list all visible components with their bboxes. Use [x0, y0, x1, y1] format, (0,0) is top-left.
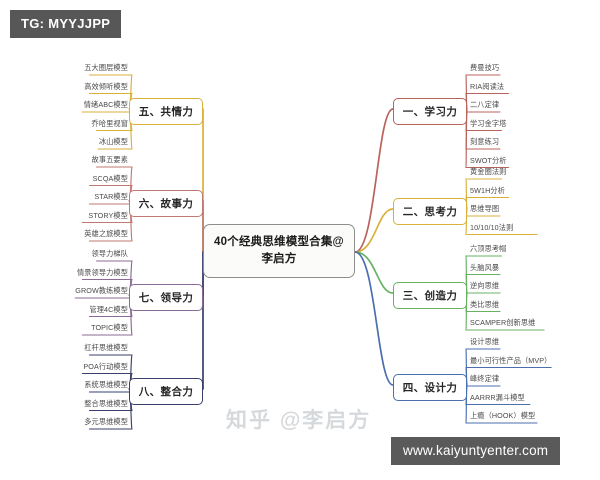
leaf-node[interactable]: STORY模型: [88, 212, 128, 221]
branch-node-label: 六、故事力: [139, 198, 194, 210]
branch-node-label: 八、整合力: [139, 386, 194, 398]
branch-node-label: 五、共情力: [139, 106, 194, 118]
leaf-node[interactable]: 管理4C模型: [89, 306, 128, 315]
leaf-node[interactable]: 设计思维: [470, 338, 499, 347]
mindmap-canvas: 40个经典思维模型合集@李启方 一、学习力二、思考力三、创造力四、设计力五、共情…: [0, 0, 600, 480]
leaf-node[interactable]: 上瘾（HOOK）模型: [470, 412, 535, 421]
leaf-node[interactable]: 英雄之旅模型: [84, 230, 128, 239]
leaf-node[interactable]: 最小可行性产品（MVP）: [470, 357, 551, 366]
leaf-node[interactable]: 情绪ABC模型: [84, 101, 128, 110]
branch-node-label: 三、创造力: [403, 290, 458, 302]
tag-badge: TG: MYYJJPP: [10, 10, 121, 38]
branch-node-thinking[interactable]: 二、思考力: [393, 198, 467, 225]
leaf-node[interactable]: 黄金圈法则: [470, 168, 506, 177]
branch-node-integration[interactable]: 八、整合力: [129, 378, 203, 405]
zhihu-watermark: 知乎 @李启方: [226, 404, 371, 434]
branch-node-learning[interactable]: 一、学习力: [393, 98, 467, 125]
leaf-node[interactable]: 乔哈里视窗: [92, 120, 128, 129]
leaf-node[interactable]: SWOT分析: [470, 157, 507, 166]
leaf-node[interactable]: RIA阅读法: [470, 83, 504, 92]
leaf-node[interactable]: POA行动模型: [83, 363, 128, 372]
branch-node-storytelling[interactable]: 六、故事力: [129, 190, 203, 217]
branch-node-label: 一、学习力: [403, 106, 458, 118]
leaf-node[interactable]: 类比思维: [470, 301, 499, 310]
leaf-node[interactable]: SCQA模型: [93, 175, 128, 184]
leaf-node[interactable]: 高效倾听模型: [84, 83, 128, 92]
leaf-node[interactable]: 五大圈层模型: [84, 64, 128, 73]
leaf-node[interactable]: 峰终定律: [470, 375, 499, 384]
leaf-node[interactable]: 杠杆思维模型: [84, 344, 128, 353]
leaf-node[interactable]: 学习金字塔: [470, 120, 506, 129]
branch-node-design[interactable]: 四、设计力: [393, 374, 467, 401]
branch-node-label: 四、设计力: [403, 382, 458, 394]
branch-node-leadership[interactable]: 七、领导力: [129, 284, 203, 311]
central-topic-node[interactable]: 40个经典思维模型合集@李启方: [203, 224, 355, 278]
leaf-node[interactable]: 头脑风暴: [470, 264, 499, 273]
leaf-node[interactable]: TOPIC模型: [91, 324, 128, 333]
branch-node-label: 二、思考力: [403, 206, 458, 218]
branch-node-creativity[interactable]: 三、创造力: [393, 282, 467, 309]
leaf-node[interactable]: 5W1H分析: [470, 187, 505, 196]
leaf-node[interactable]: SCAMPER创新思维: [470, 319, 535, 328]
leaf-node[interactable]: 费曼技巧: [470, 64, 499, 73]
leaf-node[interactable]: STAR模型: [94, 193, 128, 202]
leaf-node[interactable]: GROW教练模型: [75, 287, 128, 296]
leaf-node[interactable]: 冰山模型: [99, 138, 128, 147]
leaf-node[interactable]: 思维导图: [470, 205, 499, 214]
leaf-node[interactable]: AARRR漏斗模型: [470, 394, 525, 403]
leaf-node[interactable]: 二八定律: [470, 101, 499, 110]
leaf-node[interactable]: 故事五要素: [92, 156, 128, 165]
central-topic-label: 40个经典思维模型合集@李启方: [214, 236, 344, 265]
leaf-node[interactable]: 情景领导力模型: [77, 269, 128, 278]
leaf-node[interactable]: 整合思维模型: [84, 400, 128, 409]
leaf-node[interactable]: 刻意练习: [470, 138, 499, 147]
leaf-node[interactable]: 系统思维模型: [84, 381, 128, 390]
url-watermark-badge: www.kaiyuntyenter.com: [391, 437, 560, 465]
branch-node-label: 七、领导力: [139, 292, 194, 304]
leaf-node[interactable]: 六顶思考帽: [470, 245, 506, 254]
leaf-node[interactable]: 逆向思维: [470, 282, 499, 291]
leaf-node[interactable]: 领导力梯队: [92, 250, 128, 259]
leaf-node[interactable]: 多元思维模型: [84, 418, 128, 427]
leaf-node[interactable]: 10/10/10法则: [470, 224, 513, 233]
branch-node-empathy[interactable]: 五、共情力: [129, 98, 203, 125]
